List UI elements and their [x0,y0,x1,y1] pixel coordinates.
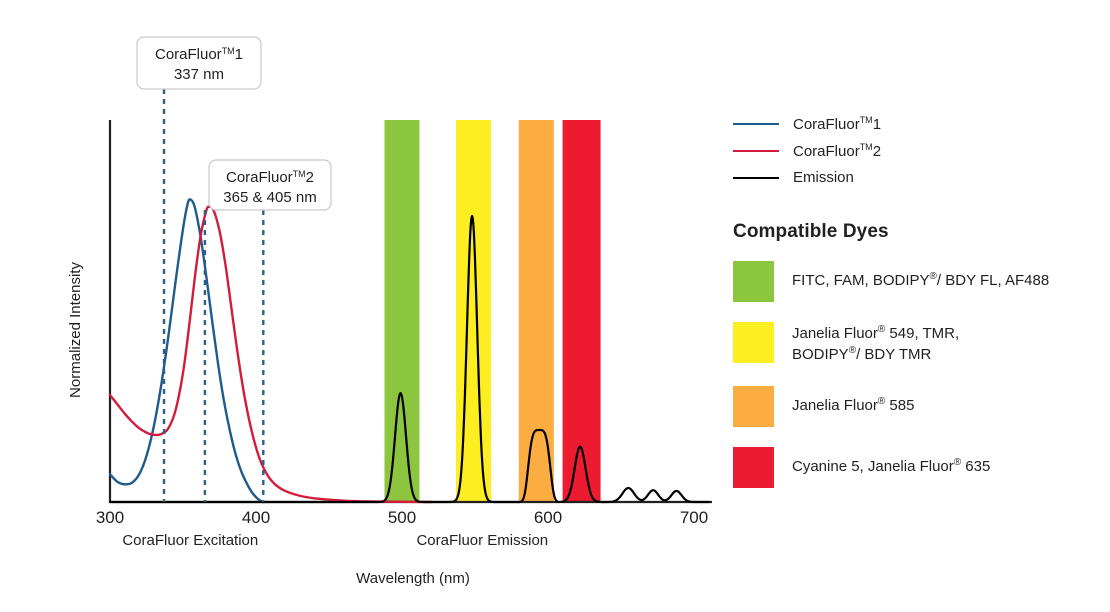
dye-color-swatch [733,322,774,363]
callout-2: CoraFluorTM2365 & 405 nm [209,160,331,210]
legend-line-label: CoraFluorTM1 [793,115,881,133]
y-axis-title: Normalized Intensity [67,262,84,398]
registered-symbol: ® [878,396,885,407]
callout-1: CoraFluorTM1337 nm [137,37,261,89]
x-axis-title: Wavelength (nm) [356,570,470,587]
legend-line-label: Emission [793,169,854,186]
dye-label-line: FITC, FAM, BODIPY®/ BDY FL, AF488 [792,270,1049,291]
legend-row-1: CoraFluorTM1 [733,110,1103,137]
region-caption: CoraFluor Emission [416,532,548,549]
x-tick-label: 500 [388,508,416,527]
trademark-symbol: TM [860,115,873,125]
dye-color-swatch [733,447,774,488]
compatible-dyes-list: FITC, FAM, BODIPY®/ BDY FL, AF488Janelia… [733,261,1103,488]
dye-label: Janelia Fluor® 585 [792,386,914,416]
dye-color-swatch [733,386,774,427]
trademark-symbol: TM [860,142,873,152]
registered-symbol: ® [954,457,961,468]
legend-line-swatch [733,150,779,152]
dye-label: FITC, FAM, BODIPY®/ BDY FL, AF488 [792,261,1049,291]
registered-symbol: ® [878,324,885,335]
green-band [384,120,419,502]
legend-panel: CoraFluorTM1CoraFluorTM2Emission Compati… [733,110,1103,508]
callout-value: 365 & 405 nm [223,189,316,206]
callout-value: 337 nm [174,66,224,83]
compatible-dyes-heading: Compatible Dyes [733,221,1103,243]
dye-label-line: BODIPY®/ BDY TMR [792,344,959,365]
dye-label-line: Cyanine 5, Janelia Fluor® 635 [792,456,990,477]
dye-label: Janelia Fluor® 549, TMR,BODIPY®/ BDY TMR [792,322,959,366]
x-tick-label: 600 [534,508,562,527]
region-caption: CoraFluor Excitation [122,532,258,549]
registered-symbol: ® [849,345,856,356]
legend-row-2: CoraFluorTM2 [733,137,1103,164]
curve-corafluor-2 [110,207,431,502]
series-legend: CoraFluorTM1CoraFluorTM2Emission [733,110,1103,191]
x-tick-label: 700 [680,508,708,527]
legend-line-swatch [733,177,779,179]
legend-row-3: Emission [733,164,1103,191]
dye-row-2: Janelia Fluor® 549, TMR,BODIPY®/ BDY TMR [733,322,1103,366]
dye-color-swatch [733,261,774,302]
dye-label: Cyanine 5, Janelia Fluor® 635 [792,447,990,477]
dye-label-line: Janelia Fluor® 585 [792,395,914,416]
x-tick-label: 300 [96,508,124,527]
registered-symbol: ® [930,271,937,282]
dye-label-line: Janelia Fluor® 549, TMR, [792,323,959,344]
x-tick-label: 400 [242,508,270,527]
dye-row-4: Cyanine 5, Janelia Fluor® 635 [733,447,1103,488]
dye-row-1: FITC, FAM, BODIPY®/ BDY FL, AF488 [733,261,1103,302]
dye-row-3: Janelia Fluor® 585 [733,386,1103,427]
legend-line-label: CoraFluorTM2 [793,142,881,160]
legend-line-swatch [733,123,779,125]
red-band [563,120,601,502]
yellow-band [456,120,491,502]
